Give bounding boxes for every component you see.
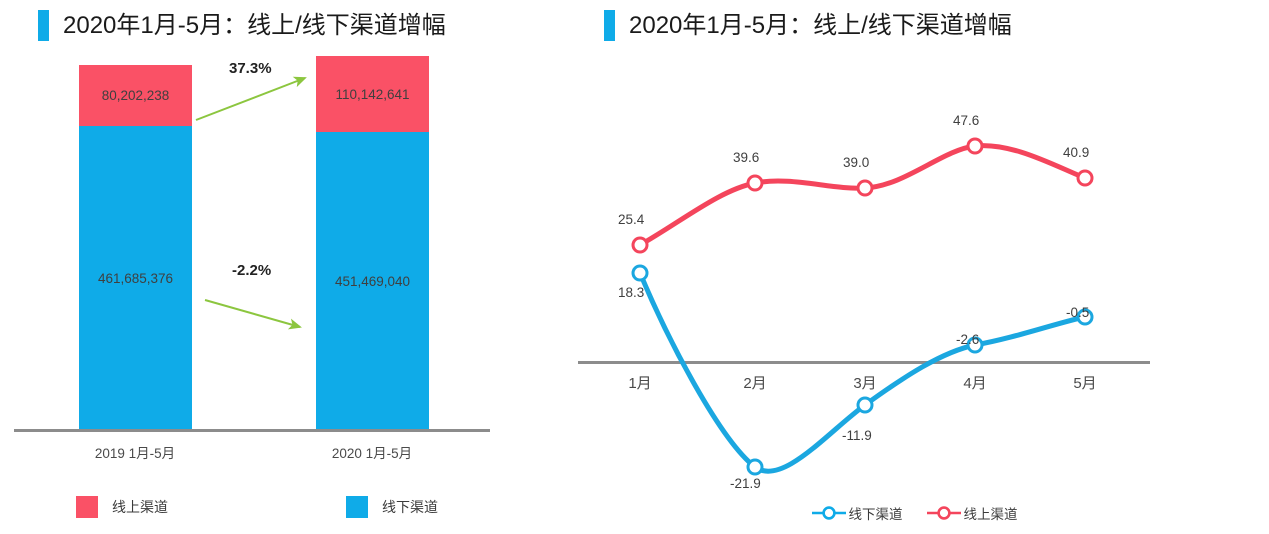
data-label-offline-4: -2.6 bbox=[956, 332, 979, 347]
data-label-offline-5: -0.5 bbox=[1066, 305, 1089, 320]
bar-value-online-2019: 80,202,238 bbox=[102, 88, 170, 103]
data-point-online-5[interactable] bbox=[1078, 171, 1092, 185]
legend-marker-online bbox=[927, 505, 961, 521]
arrow-down-offline bbox=[205, 300, 300, 327]
bar-chart-title: 2020年1月-5月：线上/线下渠道增幅 bbox=[38, 10, 446, 41]
data-label-online-2: 39.6 bbox=[733, 150, 759, 165]
data-point-offline-2[interactable] bbox=[748, 460, 762, 474]
legend-swatch-offline bbox=[346, 496, 368, 518]
data-point-offline-3[interactable] bbox=[858, 398, 872, 412]
bar-chart-panel: 2020年1月-5月：线上/线下渠道增幅 80,202,238 461,685,… bbox=[0, 0, 560, 534]
bar-chart-axis-line bbox=[14, 429, 490, 432]
line-chart-panel: 2020年1月-5月：线上/线下渠道增幅 25.4 39.6 39.0 47.6… bbox=[560, 0, 1269, 534]
data-label-online-4: 47.6 bbox=[953, 113, 979, 128]
x-axis-label-2: 2月 bbox=[710, 372, 800, 393]
legend-item-offline[interactable]: 线下渠道 bbox=[812, 503, 903, 523]
legend-marker-offline bbox=[812, 505, 846, 521]
data-label-offline-3: -11.9 bbox=[842, 428, 872, 443]
data-label-offline-2: -21.9 bbox=[730, 476, 761, 491]
category-label-2019: 2019 1月-5月 bbox=[45, 442, 225, 462]
bar-value-online-2020: 110,142,641 bbox=[335, 87, 409, 102]
legend-label-online: 线上渠道 bbox=[112, 497, 168, 517]
data-label-online-5: 40.9 bbox=[1063, 145, 1089, 160]
arrow-up-online bbox=[196, 78, 305, 120]
growth-label-online: 37.3% bbox=[229, 60, 272, 77]
legend-item-online[interactable]: 线上渠道 bbox=[927, 503, 1018, 523]
data-point-online-3[interactable] bbox=[858, 181, 872, 195]
growth-label-offline: -2.2% bbox=[232, 262, 271, 279]
data-point-online-4[interactable] bbox=[968, 139, 982, 153]
legend-label-online: 线上渠道 bbox=[964, 503, 1018, 523]
bar-value-offline-2020: 451,469,040 bbox=[335, 274, 410, 289]
line-chart-legend: 线下渠道 线上渠道 bbox=[560, 503, 1269, 523]
bar-segment-offline-2019[interactable]: 461,685,376 bbox=[79, 126, 192, 430]
x-axis-label-5: 5月 bbox=[1040, 372, 1130, 393]
data-point-offline-1[interactable] bbox=[633, 266, 647, 280]
x-axis-label-1: 1月 bbox=[595, 372, 685, 393]
bar-segment-online-2020[interactable]: 110,142,641 bbox=[316, 56, 429, 132]
data-point-online-1[interactable] bbox=[633, 238, 647, 252]
data-label-online-3: 39.0 bbox=[843, 155, 869, 170]
bar-segment-online-2019[interactable]: 80,202,238 bbox=[79, 65, 192, 126]
data-label-offline-1: 18.3 bbox=[618, 285, 644, 300]
legend-label-offline: 线下渠道 bbox=[382, 497, 438, 517]
legend-item-online[interactable]: 线上渠道 bbox=[76, 496, 168, 518]
x-axis-label-3: 3月 bbox=[820, 372, 910, 393]
category-label-2020: 2020 1月-5月 bbox=[282, 442, 462, 462]
bar-segment-offline-2020[interactable]: 451,469,040 bbox=[316, 132, 429, 430]
legend-item-offline[interactable]: 线下渠道 bbox=[346, 496, 438, 518]
line-chart-plot bbox=[560, 0, 1269, 534]
bar-chart-title-text: 2020年1月-5月：线上/线下渠道增幅 bbox=[63, 14, 446, 38]
x-axis-label-4: 4月 bbox=[930, 372, 1020, 393]
bar-value-offline-2019: 461,685,376 bbox=[98, 271, 173, 286]
title-accent-bar bbox=[38, 10, 49, 41]
data-label-online-1: 25.4 bbox=[618, 212, 644, 227]
legend-label-offline: 线下渠道 bbox=[849, 503, 903, 523]
data-point-online-2[interactable] bbox=[748, 176, 762, 190]
legend-swatch-online bbox=[76, 496, 98, 518]
